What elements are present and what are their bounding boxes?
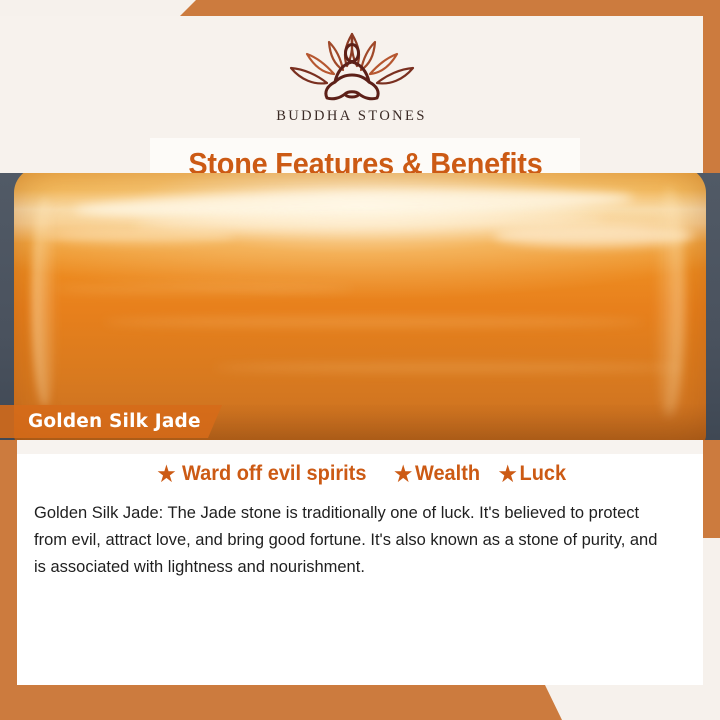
bottom-accent-band bbox=[0, 685, 720, 720]
benefit-label: Luck bbox=[519, 462, 566, 486]
stone-highlight-right bbox=[654, 187, 684, 417]
stone-streak bbox=[44, 229, 234, 243]
left-accent-band bbox=[0, 432, 17, 685]
panel-top-divider bbox=[17, 440, 703, 454]
description-panel: ★ Ward off evil spirits ★ Wealth ★ Luck … bbox=[17, 440, 703, 685]
star-icon: ★ bbox=[395, 464, 413, 485]
lotus-meditation-icon bbox=[277, 28, 427, 106]
star-icon: ★ bbox=[498, 464, 516, 485]
stone-streak bbox=[214, 363, 684, 372]
stone-photo: Golden Silk Jade bbox=[0, 173, 720, 440]
brand-logo: BUDDHA STONES bbox=[0, 28, 703, 125]
benefits-list: ★ Ward off evil spirits ★ Wealth ★ Luck bbox=[17, 462, 703, 486]
stone-highlight-left bbox=[32, 197, 58, 407]
golden-silk-jade-stone-image bbox=[14, 173, 706, 440]
benefit-label: Wealth bbox=[415, 462, 480, 486]
stone-streak bbox=[104, 317, 644, 327]
stone-description-text: Golden Silk Jade: The Jade stone is trad… bbox=[34, 499, 666, 580]
star-icon: ★ bbox=[158, 464, 176, 485]
benefit-label: Ward off evil spirits bbox=[183, 462, 367, 486]
header: BUDDHA STONES Stone Features & Benefits bbox=[0, 16, 703, 173]
brand-wordmark: BUDDHA STONES bbox=[276, 108, 427, 125]
product-feature-card: BUDDHA STONES Stone Features & Benefits … bbox=[0, 0, 720, 720]
stone-streak bbox=[54, 285, 354, 293]
benefit-item-ward-off-evil-spirits: ★ Ward off evil spirits bbox=[158, 462, 367, 486]
stone-name-badge: Golden Silk Jade bbox=[0, 405, 227, 438]
benefit-item-luck: ★ Luck bbox=[498, 462, 565, 486]
benefit-item-wealth: ★ Wealth bbox=[395, 462, 481, 486]
stone-name-label: Golden Silk Jade bbox=[28, 411, 201, 432]
top-accent-band bbox=[0, 0, 720, 16]
